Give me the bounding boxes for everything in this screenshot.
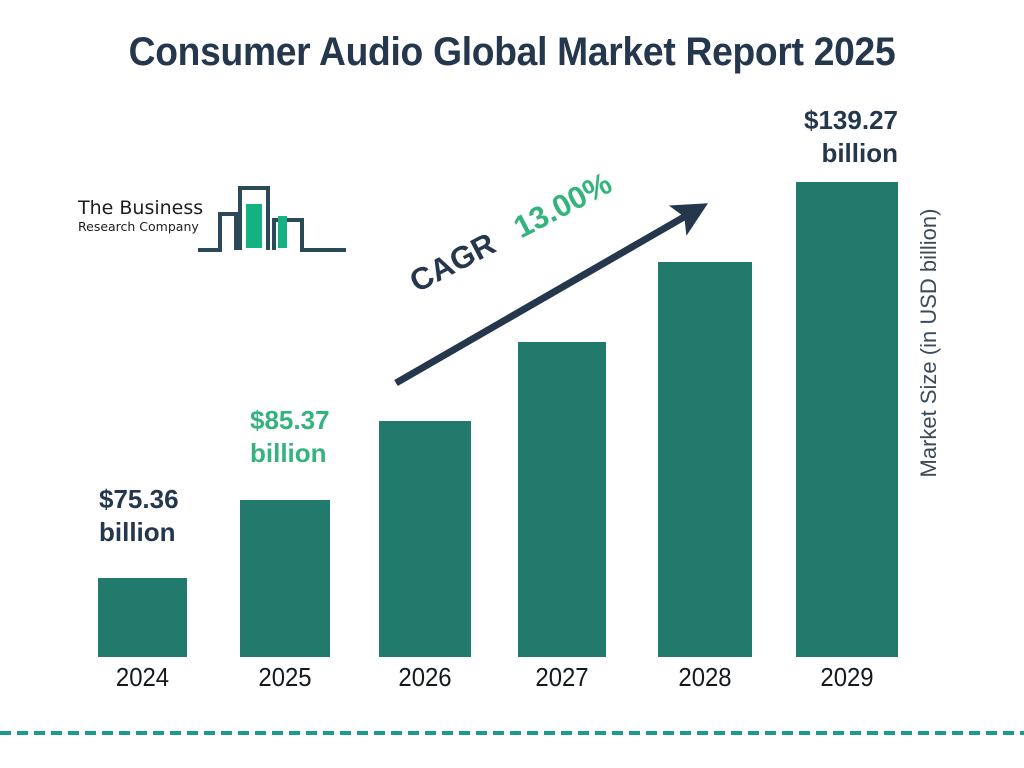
- x-tick-2028: 2028: [662, 662, 748, 693]
- bottom-divider: [0, 731, 1024, 735]
- x-tick-2025: 2025: [244, 662, 327, 693]
- x-tick-2027: 2027: [522, 662, 603, 693]
- value-label-2024: $75.36 billion: [99, 483, 179, 549]
- chart-page: Consumer Audio Global Market Report 2025…: [0, 0, 1024, 768]
- bar-2029: [796, 182, 898, 657]
- x-tick-2026: 2026: [383, 662, 468, 693]
- x-tick-2029: 2029: [800, 662, 894, 693]
- bar-2027: [518, 342, 606, 657]
- y-axis-title: Market Size (in USD billion): [916, 178, 942, 508]
- value-label-2025: $85.37 billion: [250, 404, 330, 470]
- value-label-2029: $139.27 billion: [763, 104, 898, 170]
- bar-2026: [379, 421, 471, 657]
- bar-2024: [98, 578, 187, 657]
- bar-2025: [240, 500, 330, 657]
- bar-2028: [658, 262, 752, 657]
- x-tick-2024: 2024: [102, 662, 184, 693]
